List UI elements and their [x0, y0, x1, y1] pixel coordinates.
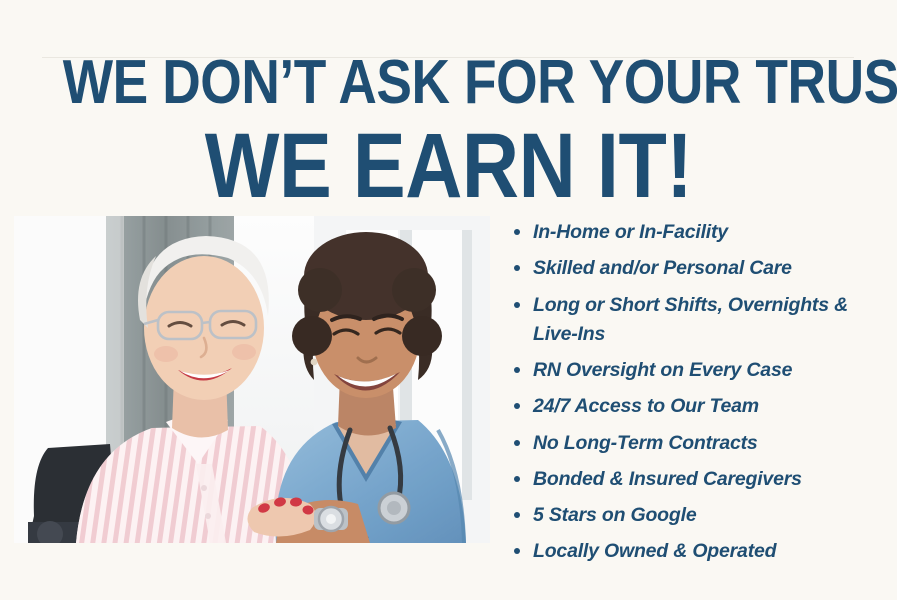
list-item: Locally Owned & Operated	[508, 537, 888, 566]
list-item: 5 Stars on Google	[508, 501, 888, 530]
list-item: In-Home or In-Facility	[508, 218, 888, 247]
trust-banner: WE DON’T ASK FOR YOUR TRUST WE EARN IT!	[0, 0, 897, 600]
list-item: Skilled and/or Personal Care	[508, 254, 888, 283]
benefits-list: In-Home or In-Facility Skilled and/or Pe…	[508, 218, 888, 574]
list-item: RN Oversight on Every Case	[508, 356, 888, 385]
headline-primary: WE DON’T ASK FOR YOUR TRUST	[63, 52, 834, 114]
list-item: Bonded & Insured Caregivers	[508, 465, 888, 494]
caregiver-photo	[14, 216, 490, 543]
list-item: 24/7 Access to Our Team	[508, 392, 888, 421]
headline-secondary: WE EARN IT!	[63, 120, 834, 212]
list-item: Long or Short Shifts, Overnights & Live-…	[508, 291, 888, 350]
list-item: No Long-Term Contracts	[508, 429, 888, 458]
headline-block: WE DON’T ASK FOR YOUR TRUST WE EARN IT!	[0, 52, 897, 212]
